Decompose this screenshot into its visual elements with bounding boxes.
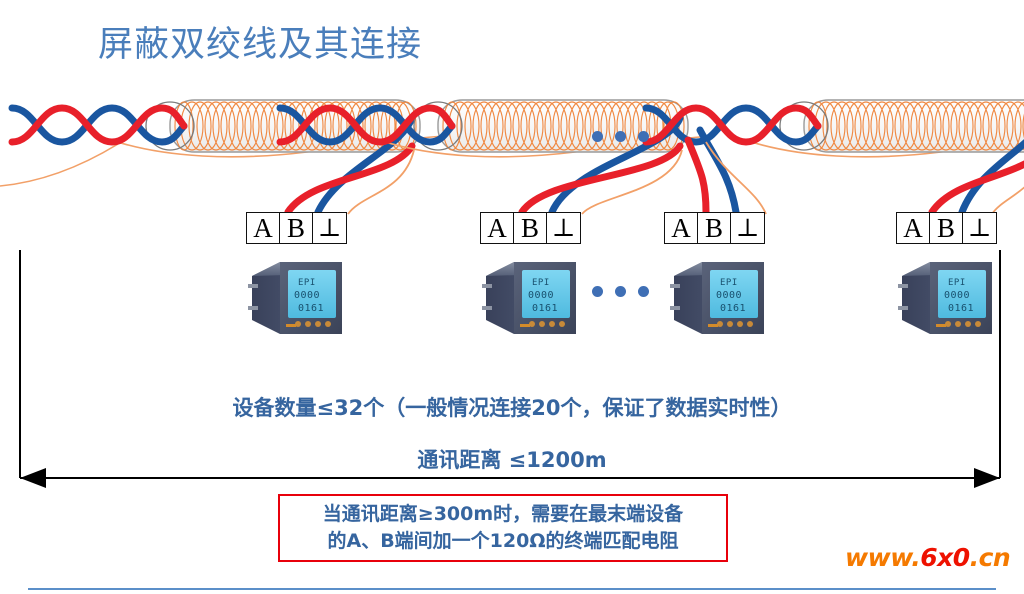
watermark-part-3: .cn (970, 543, 1011, 572)
svg-text:EPI: EPI (948, 278, 966, 288)
terminal-1-a: A (247, 213, 280, 243)
meter-graphic-2: EPI 0000 0161 (482, 262, 576, 334)
page-title: 屏蔽双绞线及其连接 (98, 16, 422, 67)
caption-communication-distance: 通讯距离 ≤1200m (417, 444, 606, 474)
terminal-1-b: B (280, 213, 313, 243)
site-watermark: www.6x0.cn (845, 543, 1010, 572)
ellipsis-dot (615, 286, 626, 297)
meter-graphic-3: EPI 0000 0161 (670, 262, 764, 334)
svg-text:0161: 0161 (298, 303, 324, 314)
bottom-divider (28, 588, 996, 590)
terminal-3-ground: ⊥ (731, 213, 764, 243)
svg-text:0000: 0000 (716, 290, 742, 301)
svg-text:0161: 0161 (948, 303, 974, 314)
svg-text:0161: 0161 (720, 303, 746, 314)
svg-text:0000: 0000 (294, 290, 320, 301)
ellipsis-dot (638, 131, 649, 142)
svg-text:0000: 0000 (528, 290, 554, 301)
terminal-3-b: B (698, 213, 731, 243)
watermark-part-1: www. (845, 543, 920, 572)
watermark-part-2: 6x0 (920, 543, 969, 572)
svg-text:0000: 0000 (944, 290, 970, 301)
ellipsis-upper (592, 131, 649, 142)
terminating-resistor-note: 当通讯距离≥300m时，需要在最末端设备 的A、B端间加一个120Ω的终端匹配电… (278, 494, 728, 562)
caption-device-count: 设备数量≤32个（一般情况连接20个，保证了数据实时性） (232, 392, 791, 422)
ellipsis-dot (638, 286, 649, 297)
terminal-4-a: A (897, 213, 930, 243)
terminal-block-3: A B ⊥ (664, 212, 765, 244)
meter-graphic-1: EPI 0000 0161 (248, 262, 342, 334)
terminal-2-ground: ⊥ (547, 213, 580, 243)
ellipsis-dot (592, 286, 603, 297)
note-line-2: 的A、B端间加一个120Ω的终端匹配电阻 (328, 528, 679, 555)
svg-text:EPI: EPI (532, 278, 550, 288)
terminal-block-1: A B ⊥ (246, 212, 347, 244)
terminal-4-ground: ⊥ (963, 213, 996, 243)
svg-text:EPI: EPI (298, 278, 316, 288)
diagram-canvas: EPI 0000 0161 EPI 0000 0161 (0, 0, 1024, 594)
terminal-2-a: A (481, 213, 514, 243)
ellipsis-dot (615, 131, 626, 142)
ellipsis-dot (592, 131, 603, 142)
ellipsis-lower (592, 286, 649, 297)
terminal-1-ground: ⊥ (313, 213, 346, 243)
terminal-block-2: A B ⊥ (480, 212, 581, 244)
svg-text:EPI: EPI (720, 278, 738, 288)
meter-graphic-4: EPI 0000 0161 (898, 262, 992, 334)
terminal-2-b: B (514, 213, 547, 243)
terminal-block-4: A B ⊥ (896, 212, 997, 244)
note-line-1: 当通讯距离≥300m时，需要在最末端设备 (323, 501, 683, 528)
terminal-4-b: B (930, 213, 963, 243)
terminal-3-a: A (665, 213, 698, 243)
svg-text:0161: 0161 (532, 303, 558, 314)
